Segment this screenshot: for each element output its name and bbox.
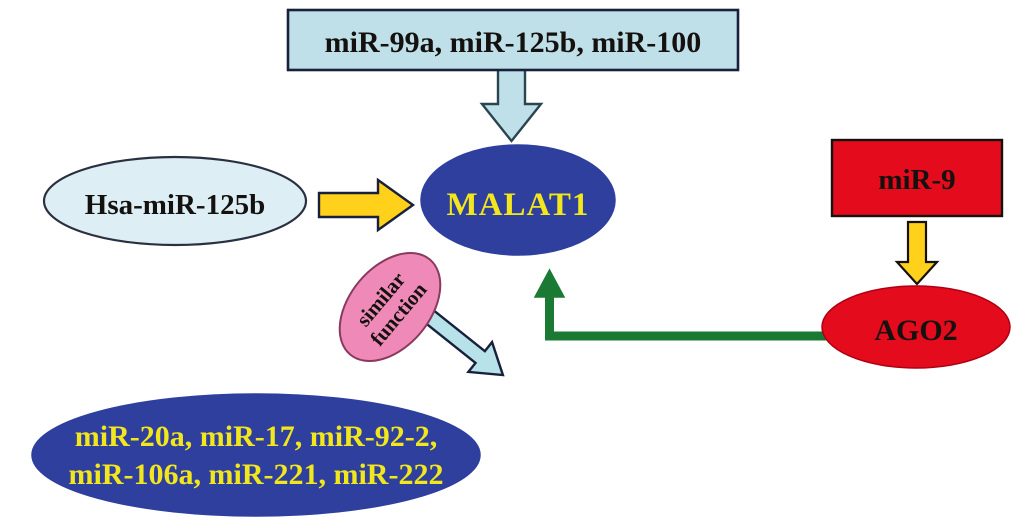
node-bottom-ellipse[interactable] <box>32 394 480 516</box>
mir9-box-label: miR-9 <box>878 164 955 196</box>
bottom-ellipse-label-line2: miR-106a, miR-221, miR-222 <box>69 458 444 491</box>
diagram-canvas: miR-99a, miR-125b, miR-100 Hsa-miR-125b … <box>0 0 1033 529</box>
left-ellipse-label: Hsa-miR-125b <box>85 189 265 221</box>
pathway-diagram: miR-99a, miR-125b, miR-100 Hsa-miR-125b … <box>0 0 1033 529</box>
center-ellipse-label: MALAT1 <box>447 187 590 223</box>
bottom-ellipse-label-line1: miR-20a, miR-17, miR-92-2, <box>75 420 437 453</box>
edge-top-to-malat1-block-arrow-down-icon <box>482 62 541 141</box>
edge-ago2-to-malat1-elbow-arrow-icon <box>535 270 828 340</box>
edge-mir9-to-ago2-block-arrow-down-icon <box>897 222 937 284</box>
top-box-label: miR-99a, miR-125b, miR-100 <box>325 26 702 59</box>
ago2-ellipse-label: AGO2 <box>874 314 957 347</box>
edge-hsa-to-malat1-block-arrow-right-icon <box>319 180 413 230</box>
